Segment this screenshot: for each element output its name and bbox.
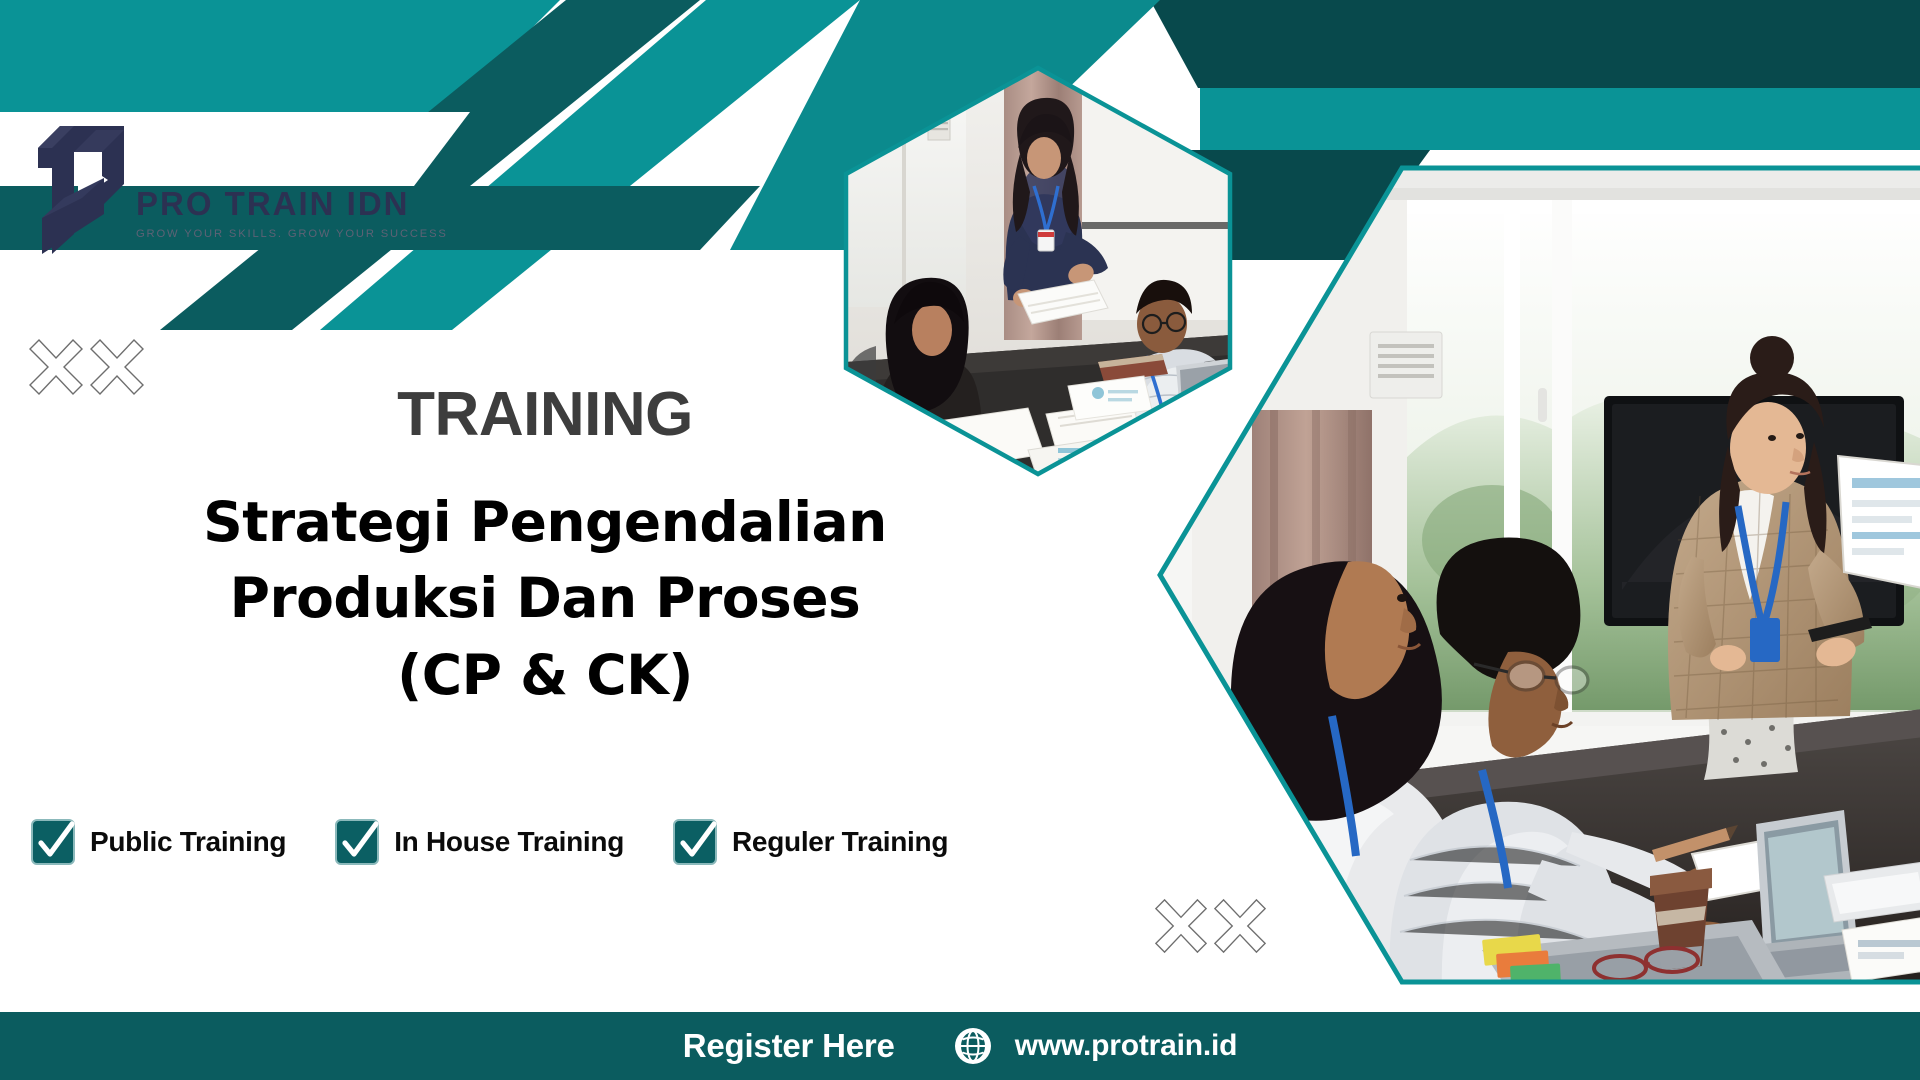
hex-photo-classroom-large: [1152, 160, 1920, 990]
checkbox-checked-icon[interactable]: [672, 818, 718, 866]
deco-band-deepest-top: [1150, 0, 1920, 88]
training-option-public-label: Public Training: [90, 826, 286, 858]
x-mark-icon: [1152, 896, 1210, 956]
deco-band-light-left: [0, 0, 560, 112]
training-option-reguler[interactable]: Reguler Training: [672, 818, 948, 866]
training-option-inhouse[interactable]: In House Training: [334, 818, 624, 866]
logo-tagline-text: GROW YOUR SKILLS. GROW YOUR SUCCESS: [136, 228, 448, 240]
wall-vent: [1370, 332, 1442, 398]
globe-icon: [953, 1026, 993, 1066]
chevron-arrow-logo-icon: [34, 122, 128, 254]
x-mark-icon: [1211, 896, 1269, 956]
website-group[interactable]: www.protrain.id: [953, 1026, 1238, 1066]
training-options-row: Public Training In House Training Regule…: [30, 818, 948, 866]
kicker-text: TRAINING: [0, 384, 1090, 446]
checkbox-checked-icon[interactable]: [30, 818, 76, 866]
checkbox-checked-icon[interactable]: [334, 818, 380, 866]
training-option-public[interactable]: Public Training: [30, 818, 286, 866]
footer-bar: Register Here www.protrain.id: [0, 1012, 1920, 1080]
x-marks-middle: [1152, 896, 1269, 956]
training-option-inhouse-label: In House Training: [394, 826, 624, 858]
coffee-cup: [1650, 868, 1712, 970]
logo-name-text: PRO TRAIN IDN: [136, 187, 410, 220]
hex-photo-large-image: [1152, 160, 1920, 990]
logo-wordmark: PRO TRAIN IDN GROW YOUR SKILLS. GROW YOU…: [136, 187, 448, 254]
training-poster: PRO TRAIN IDN GROW YOUR SKILLS. GROW YOU…: [0, 0, 1920, 1080]
headline-block: TRAINING Strategi Pengendalian Produksi …: [0, 384, 1090, 713]
website-url[interactable]: www.protrain.id: [1015, 1029, 1238, 1063]
training-option-reguler-label: Reguler Training: [732, 826, 948, 858]
register-here-label: Register Here: [683, 1027, 895, 1065]
page-title: Strategi Pengendalian Produksi Dan Prose…: [0, 484, 1090, 713]
brand-logo[interactable]: PRO TRAIN IDN GROW YOUR SKILLS. GROW YOU…: [34, 122, 448, 254]
